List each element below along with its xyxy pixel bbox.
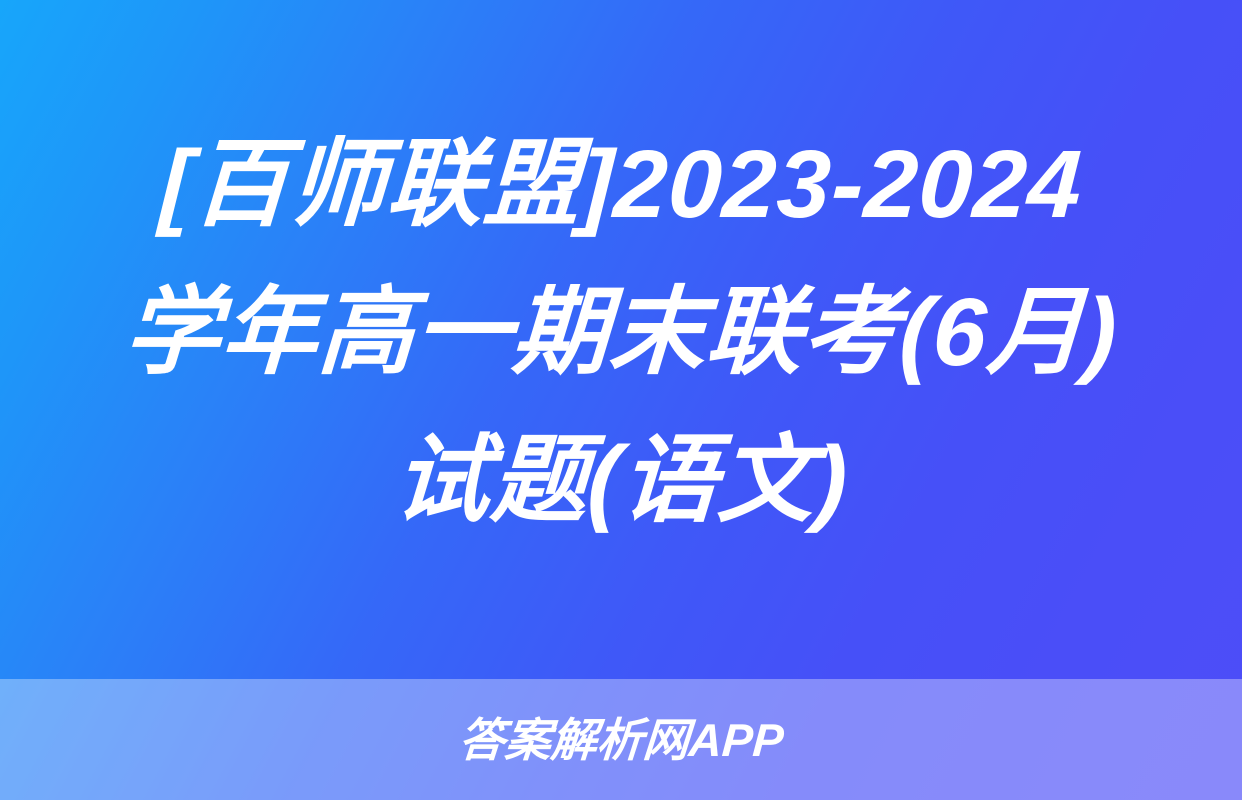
watermark-band: 答案解析网APP [0, 679, 1242, 800]
title-line-2: 学年高一期末联考(6月) [120, 259, 1121, 407]
title-block: [百师联盟]2023-2024 学年高一期末联考(6月) 试题(语文) [0, 0, 1242, 679]
title-line-3: 试题(语文) [390, 407, 852, 555]
exam-title-card: [百师联盟]2023-2024 学年高一期末联考(6月) 试题(语文) 答案解析… [0, 0, 1242, 800]
title-line-1: [百师联盟]2023-2024 [156, 111, 1086, 259]
app-watermark-label: 答案解析网APP [457, 717, 785, 763]
